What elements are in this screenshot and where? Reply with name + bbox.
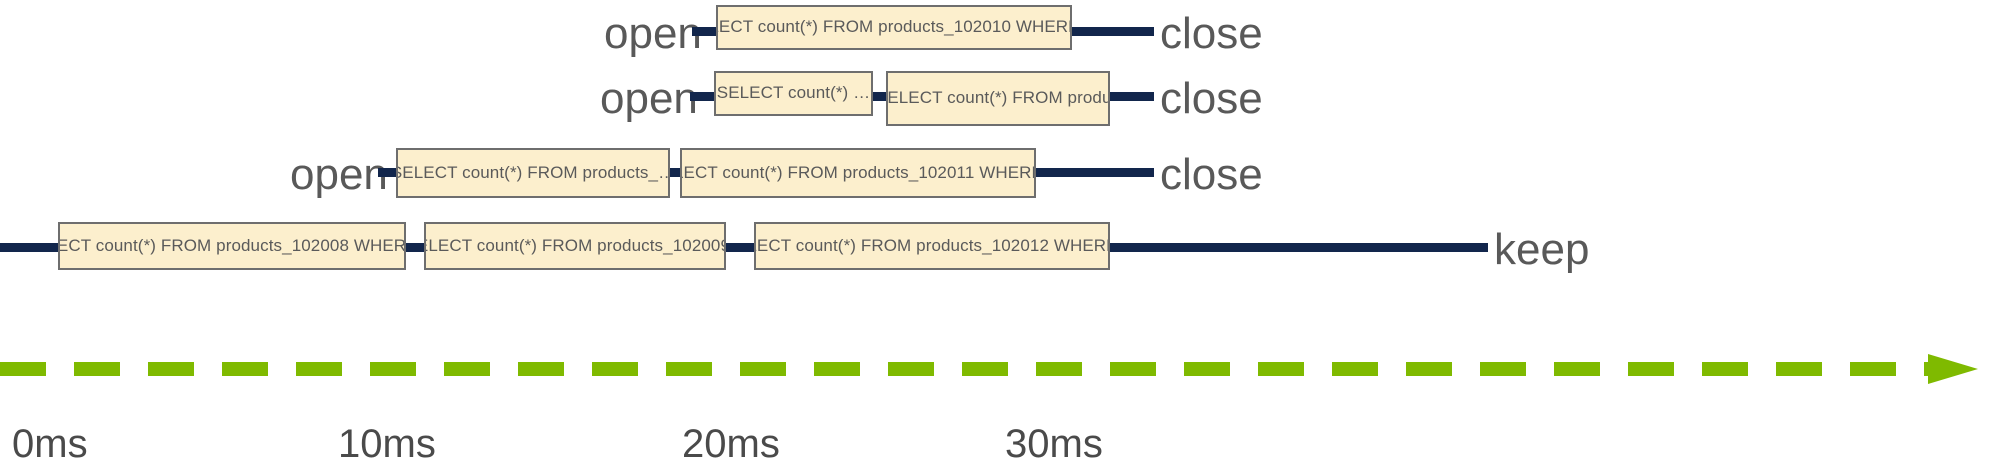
row-3-query-text-1: SELECT count(*) FROM products_…: [396, 164, 670, 183]
row-4-query-text-3: SELECT count(*) FROM products_102012 WHE…: [754, 237, 1110, 256]
row-4-keep-label: keep: [1494, 228, 1589, 272]
row-4-keep-connector: [1110, 243, 1488, 252]
time-tick-0ms: 0ms: [12, 424, 88, 464]
time-axis-arrow: [0, 352, 2000, 386]
row-1-query-box-1[interactable]: SELECT count(*) FROM products_102010 WHE…: [716, 5, 1072, 50]
row-2-query-box-2[interactable]: SELECT count(*) FROM produc: [886, 71, 1110, 126]
row-2-open-label: open: [600, 77, 698, 121]
row-1-open-label: open: [604, 12, 702, 56]
row-1-close-label: close: [1160, 12, 1263, 56]
row-3-inter-connector-1: [670, 168, 680, 177]
time-tick-10ms: 10ms: [338, 424, 436, 464]
row-3-open-label: open: [290, 153, 388, 197]
row-4-inter-connector-2: [726, 243, 754, 252]
row-4-inter-connector-1: [406, 243, 424, 252]
row-2-open-connector: [690, 92, 714, 101]
row-4-start-connector: [0, 243, 58, 252]
row-3-query-box-2[interactable]: SELECT count(*) FROM products_102011 WHE…: [680, 148, 1036, 198]
time-tick-30ms: 30ms: [1005, 424, 1103, 464]
time-tick-20ms: 20ms: [682, 424, 780, 464]
row-3-query-text-2: SELECT count(*) FROM products_102011 WHE…: [680, 164, 1036, 183]
row-4-query-text-2: SELECT count(*) FROM products_102009 ..: [424, 237, 726, 256]
row-2-query-text-2: SELECT count(*) FROM produc: [886, 89, 1110, 108]
row-4-query-text-1: SELECT count(*) FROM products_102008 WHE…: [58, 237, 406, 256]
arrow-head-icon: [1928, 354, 1978, 384]
row-1-query-text-1: SELECT count(*) FROM products_102010 WHE…: [716, 18, 1072, 37]
row-3-close-connector: [1036, 168, 1154, 177]
row-3-close-label: close: [1160, 153, 1263, 197]
row-2-query-box-1[interactable]: SELECT count(*) …: [714, 71, 873, 116]
row-2-inter-connector-1: [873, 92, 886, 101]
row-1-open-connector: [692, 27, 716, 36]
row-3-open-connector: [378, 168, 396, 177]
row-2-close-connector: [1110, 92, 1154, 101]
row-2-close-label: close: [1160, 77, 1263, 121]
row-1-close-connector: [1072, 27, 1154, 36]
row-4-query-box-1[interactable]: SELECT count(*) FROM products_102008 WHE…: [58, 222, 406, 270]
row-2-query-text-1: SELECT count(*) …: [714, 84, 873, 103]
row-4-query-box-3[interactable]: SELECT count(*) FROM products_102012 WHE…: [754, 222, 1110, 270]
row-4-query-box-2[interactable]: SELECT count(*) FROM products_102009 ..: [424, 222, 726, 270]
row-3-query-box-1[interactable]: SELECT count(*) FROM products_…: [396, 148, 670, 198]
timeline-diagram: open SELECT count(*) FROM products_10201…: [0, 0, 2000, 476]
